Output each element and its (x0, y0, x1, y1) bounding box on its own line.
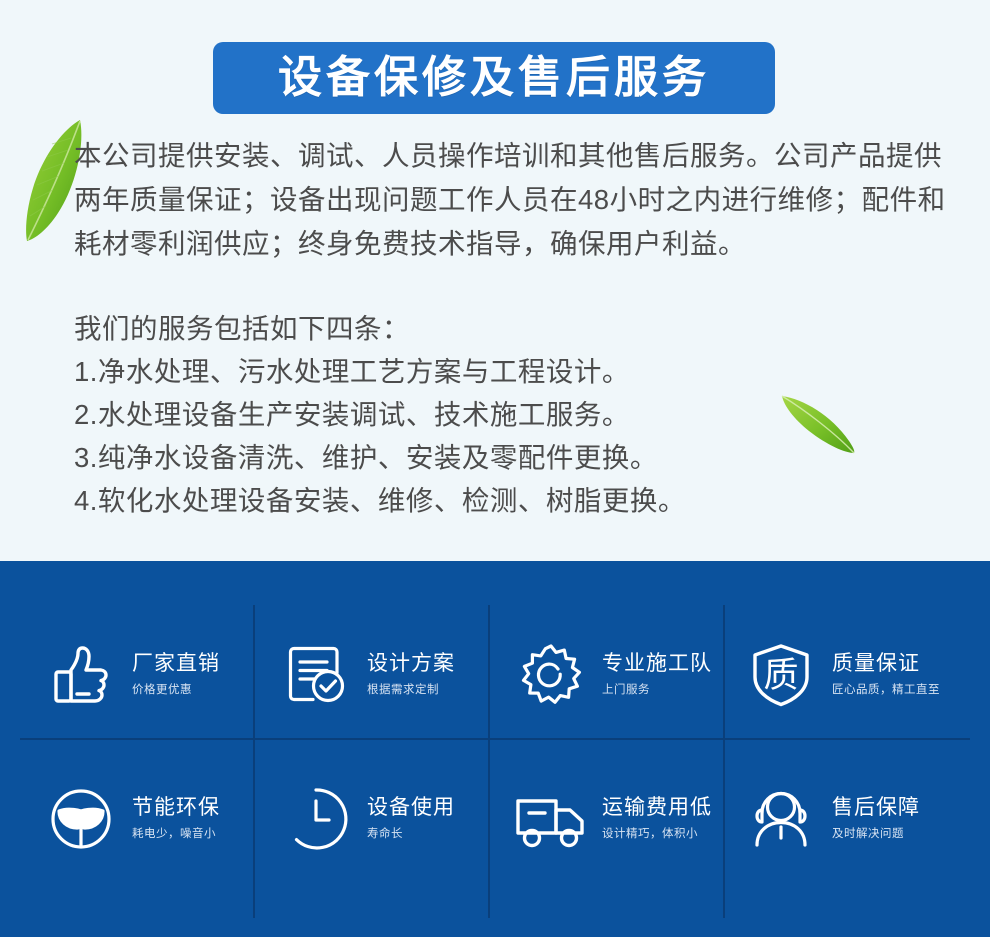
feature-text: 售后保障 及时解决问题 (832, 794, 920, 844)
feature-subtitle: 根据需求定制 (367, 680, 455, 700)
intro-section: 设备保修及售后服务 本公司提供安装、调试、人员操作培训和 (0, 0, 990, 561)
svg-text:质: 质 (763, 656, 798, 695)
feature-subtitle: 寿命长 (367, 824, 455, 844)
feature-cell-professional-team[interactable]: 专业施工队 上门服务 (512, 605, 744, 745)
feature-title: 节能环保 (132, 794, 220, 822)
clock-icon (277, 780, 355, 858)
feature-title: 售后保障 (832, 794, 920, 822)
feature-text: 设计方案 根据需求定制 (367, 650, 455, 700)
feature-title: 质量保证 (832, 650, 940, 678)
feature-cell-design-plan[interactable]: 设计方案 根据需求定制 (277, 605, 509, 745)
feature-subtitle: 价格更优惠 (132, 680, 220, 700)
intro-paragraph: 本公司提供安装、调试、人员操作培训和其他售后服务。公司产品提供两年质量保证；设备… (74, 134, 954, 266)
feature-cell-energy-saving[interactable]: 节能环保 耗电少，噪音小 (42, 749, 274, 889)
feature-title: 设计方案 (367, 650, 455, 678)
eco-leaf-icon (42, 780, 120, 858)
feature-cell-after-sales[interactable]: 售后保障 及时解决问题 (742, 749, 974, 889)
feature-text: 厂家直销 价格更优惠 (132, 650, 220, 700)
shield-quality-icon: 质 (742, 636, 820, 714)
feature-subtitle: 及时解决问题 (832, 824, 920, 844)
feature-subtitle: 上门服务 (602, 680, 712, 700)
service-list-item: 1.净水处理、污水处理工艺方案与工程设计。 (74, 350, 924, 393)
feature-subtitle: 耗电少，噪音小 (132, 824, 220, 844)
features-section: 厂家直销 价格更优惠 设计方案 根据需求定制 (0, 561, 990, 937)
feature-title: 厂家直销 (132, 650, 220, 678)
feature-cell-low-shipping[interactable]: 运输费用低 设计精巧，体积小 (512, 749, 744, 889)
feature-text: 质量保证 匠心品质，精工直至 (832, 650, 940, 700)
feature-subtitle: 设计精巧，体积小 (602, 824, 712, 844)
truck-icon (512, 780, 590, 858)
feature-cell-quality-guarantee[interactable]: 质 质量保证 匠心品质，精工直至 (742, 605, 974, 745)
service-list-item: 2.水处理设备生产安装调试、技术施工服务。 (74, 393, 924, 436)
feature-text: 运输费用低 设计精巧，体积小 (602, 794, 712, 844)
service-list-heading: 我们的服务包括如下四条： (74, 307, 924, 350)
headset-support-icon (742, 780, 820, 858)
feature-title: 专业施工队 (602, 650, 712, 678)
page-title-banner: 设备保修及售后服务 (213, 42, 775, 114)
feature-title: 设备使用 (367, 794, 455, 822)
page-title: 设备保修及售后服务 (278, 56, 710, 100)
gear-icon (512, 636, 590, 714)
service-list: 我们的服务包括如下四条： 1.净水处理、污水处理工艺方案与工程设计。 2.水处理… (74, 307, 924, 522)
feature-text: 设备使用 寿命长 (367, 794, 455, 844)
document-check-icon (277, 636, 355, 714)
feature-cell-factory-direct[interactable]: 厂家直销 价格更优惠 (42, 605, 274, 745)
feature-subtitle: 匠心品质，精工直至 (832, 680, 940, 700)
service-list-item: 4.软化水处理设备安装、维修、检测、树脂更换。 (74, 479, 924, 522)
service-list-item: 3.纯净水设备清洗、维护、安装及零配件更换。 (74, 436, 924, 479)
feature-title: 运输费用低 (602, 794, 712, 822)
feature-text: 节能环保 耗电少，噪音小 (132, 794, 220, 844)
thumbs-up-icon (42, 636, 120, 714)
feature-cell-equipment-lifespan[interactable]: 设备使用 寿命长 (277, 749, 509, 889)
feature-text: 专业施工队 上门服务 (602, 650, 712, 700)
